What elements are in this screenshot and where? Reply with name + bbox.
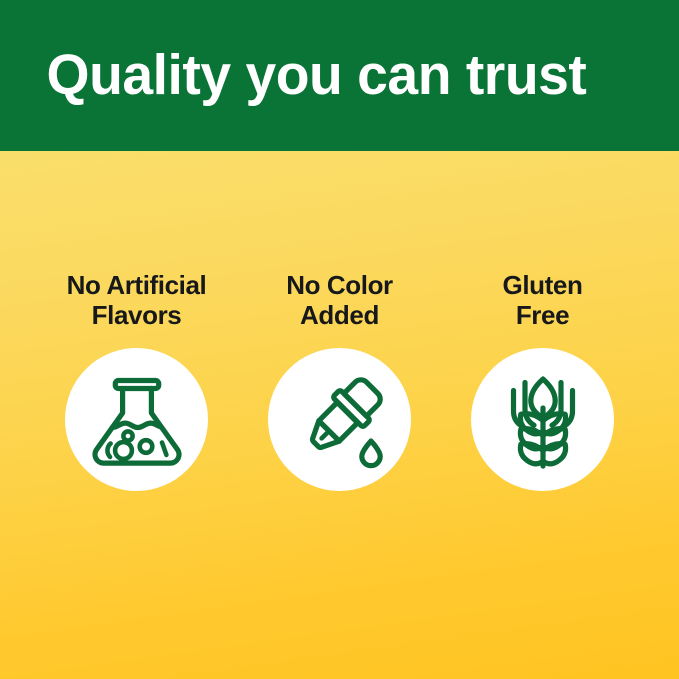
quality-infographic: Quality you can trust No Artificial Flav… <box>0 0 679 679</box>
dropper-icon <box>288 368 392 472</box>
badge-circle-no-color-added <box>268 348 411 491</box>
badge-circle-gluten-free <box>471 348 614 491</box>
badge-circle-no-artificial-flavors <box>65 348 208 491</box>
badge-label-no-color-added: No Color Added <box>286 270 393 330</box>
badge-gluten-free: Gluten Free <box>441 270 644 491</box>
badge-label-no-artificial-flavors: No Artificial Flavors <box>67 270 207 330</box>
badge-no-artificial-flavors: No Artificial Flavors <box>35 270 238 491</box>
page-title: Quality you can trust <box>0 46 586 104</box>
header-banner: Quality you can trust <box>0 0 679 151</box>
wheat-icon <box>491 368 595 472</box>
flask-icon <box>85 368 189 472</box>
badge-label-gluten-free: Gluten Free <box>503 270 583 330</box>
badge-no-color-added: No Color Added <box>238 270 441 491</box>
badge-row: No Artificial Flavors <box>0 270 679 491</box>
